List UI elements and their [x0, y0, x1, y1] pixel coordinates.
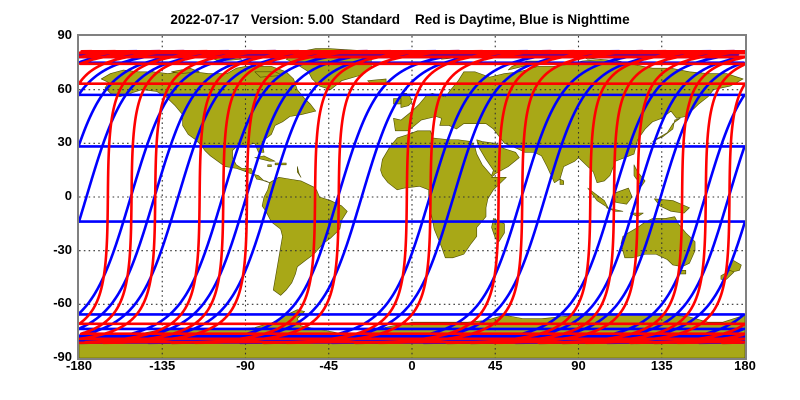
x-tick-label: -90	[236, 359, 255, 373]
x-tick-label: 135	[651, 359, 673, 373]
y-axis-tick-labels: 9060300-30-60-90	[26, 34, 72, 356]
y-tick-label: -30	[30, 243, 72, 256]
x-tick-label: 0	[408, 359, 415, 373]
x-tick-label: 90	[571, 359, 585, 373]
y-tick-label: 90	[30, 28, 72, 41]
y-tick-label: 60	[30, 82, 72, 95]
plot-area	[77, 34, 747, 360]
page-title: 2022-07-17 Version: 5.00 Standard Red is…	[0, 12, 800, 27]
x-tick-label: 45	[488, 359, 502, 373]
y-tick-label: -60	[30, 296, 72, 309]
ground-track-figure: 2022-07-17 Version: 5.00 Standard Red is…	[0, 0, 800, 400]
map-canvas	[79, 36, 745, 358]
y-tick-label: 30	[30, 135, 72, 148]
x-tick-label: -135	[149, 359, 175, 373]
x-tick-label: -45	[319, 359, 338, 373]
x-tick-label: -180	[66, 359, 92, 373]
x-tick-label: 180	[734, 359, 756, 373]
y-tick-label: 0	[30, 189, 72, 202]
x-axis-tick-labels: -180-135-90-4504590135180	[77, 359, 747, 379]
